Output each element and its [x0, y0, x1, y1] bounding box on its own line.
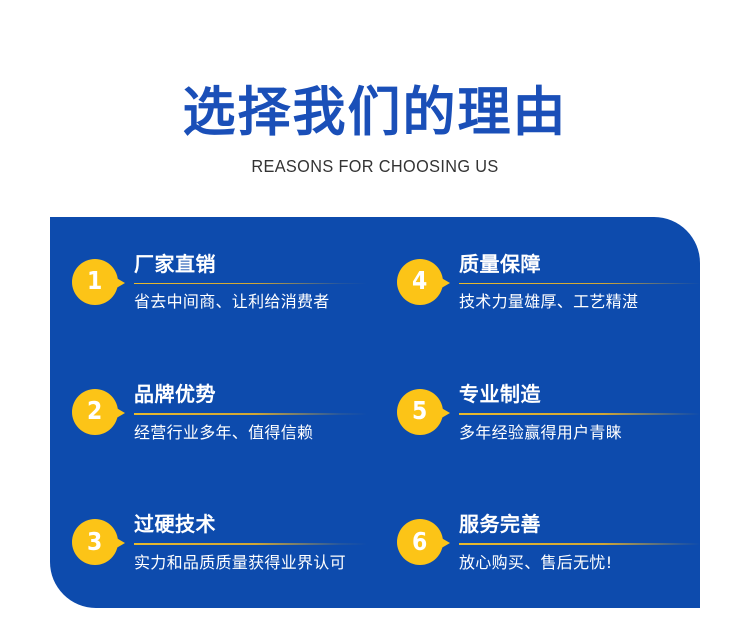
reason-title: 质量保障 [459, 253, 700, 283]
badge-number: 2 [87, 398, 102, 423]
badge-3: 3 [72, 519, 124, 566]
reasons-grid: 1 厂家直销 省去中间商、让利给消费者 4 质 [50, 217, 700, 608]
reason-item-3: 3 过硬技术 实力和品质质量获得业界认可 [50, 478, 375, 608]
reason-texts: 品牌优势 经营行业多年、值得信赖 [134, 383, 375, 442]
badge-4: 4 [397, 259, 449, 306]
reason-item-4: 4 质量保障 技术力量雄厚、工艺精湛 [375, 217, 700, 347]
badge-6: 6 [397, 519, 449, 566]
badge-number: 3 [87, 529, 102, 554]
reason-description: 放心购买、售后无忧! [459, 545, 700, 572]
reason-texts: 厂家直销 省去中间商、让利给消费者 [134, 253, 375, 312]
reason-texts: 专业制造 多年经验赢得用户青睐 [459, 383, 700, 442]
page-title: 选择我们的理由 [0, 0, 750, 140]
reason-item-6: 6 服务完善 放心购买、售后无忧! [375, 478, 700, 608]
badge-number: 1 [87, 268, 102, 293]
circle-badge-icon: 6 [397, 519, 443, 565]
badge-number: 5 [412, 398, 427, 423]
reason-texts: 过硬技术 实力和品质质量获得业界认可 [134, 513, 375, 572]
badge-number: 6 [412, 529, 427, 554]
reason-texts: 质量保障 技术力量雄厚、工艺精湛 [459, 253, 700, 312]
reason-description: 实力和品质质量获得业界认可 [134, 545, 367, 572]
reason-title: 专业制造 [459, 383, 700, 413]
reason-description: 经营行业多年、值得信赖 [134, 415, 367, 442]
page-subtitle: REASONS FOR CHOOSING US [26, 140, 724, 177]
promo-banner: 选择我们的理由 REASONS FOR CHOOSING US 1 厂家直销 省… [0, 0, 750, 632]
badge-number: 4 [412, 268, 427, 293]
badge-pointer-icon [113, 276, 125, 290]
badge-pointer-icon [438, 406, 450, 420]
badge-pointer-icon [113, 536, 125, 550]
badge-pointer-icon [438, 276, 450, 290]
badge-2: 2 [72, 389, 124, 436]
circle-badge-icon: 4 [397, 259, 443, 305]
badge-5: 5 [397, 389, 449, 436]
circle-badge-icon: 3 [72, 519, 118, 565]
reason-description: 多年经验赢得用户青睐 [459, 415, 700, 442]
reason-item-2: 2 品牌优势 经营行业多年、值得信赖 [50, 347, 375, 477]
reason-item-5: 5 专业制造 多年经验赢得用户青睐 [375, 347, 700, 477]
reason-title: 厂家直销 [134, 253, 367, 283]
reason-title: 过硬技术 [134, 513, 367, 543]
circle-badge-icon: 5 [397, 389, 443, 435]
reason-title: 服务完善 [459, 513, 700, 543]
reasons-panel: 1 厂家直销 省去中间商、让利给消费者 4 质 [50, 217, 700, 608]
reason-title: 品牌优势 [134, 383, 367, 413]
badge-pointer-icon [438, 536, 450, 550]
circle-badge-icon: 2 [72, 389, 118, 435]
header: 选择我们的理由 REASONS FOR CHOOSING US [0, 0, 750, 177]
reason-description: 省去中间商、让利给消费者 [134, 284, 367, 311]
badge-1: 1 [72, 259, 124, 306]
circle-badge-icon: 1 [72, 259, 118, 305]
reason-description: 技术力量雄厚、工艺精湛 [459, 284, 700, 311]
reason-item-1: 1 厂家直销 省去中间商、让利给消费者 [50, 217, 375, 347]
badge-pointer-icon [113, 406, 125, 420]
reason-texts: 服务完善 放心购买、售后无忧! [459, 513, 700, 572]
